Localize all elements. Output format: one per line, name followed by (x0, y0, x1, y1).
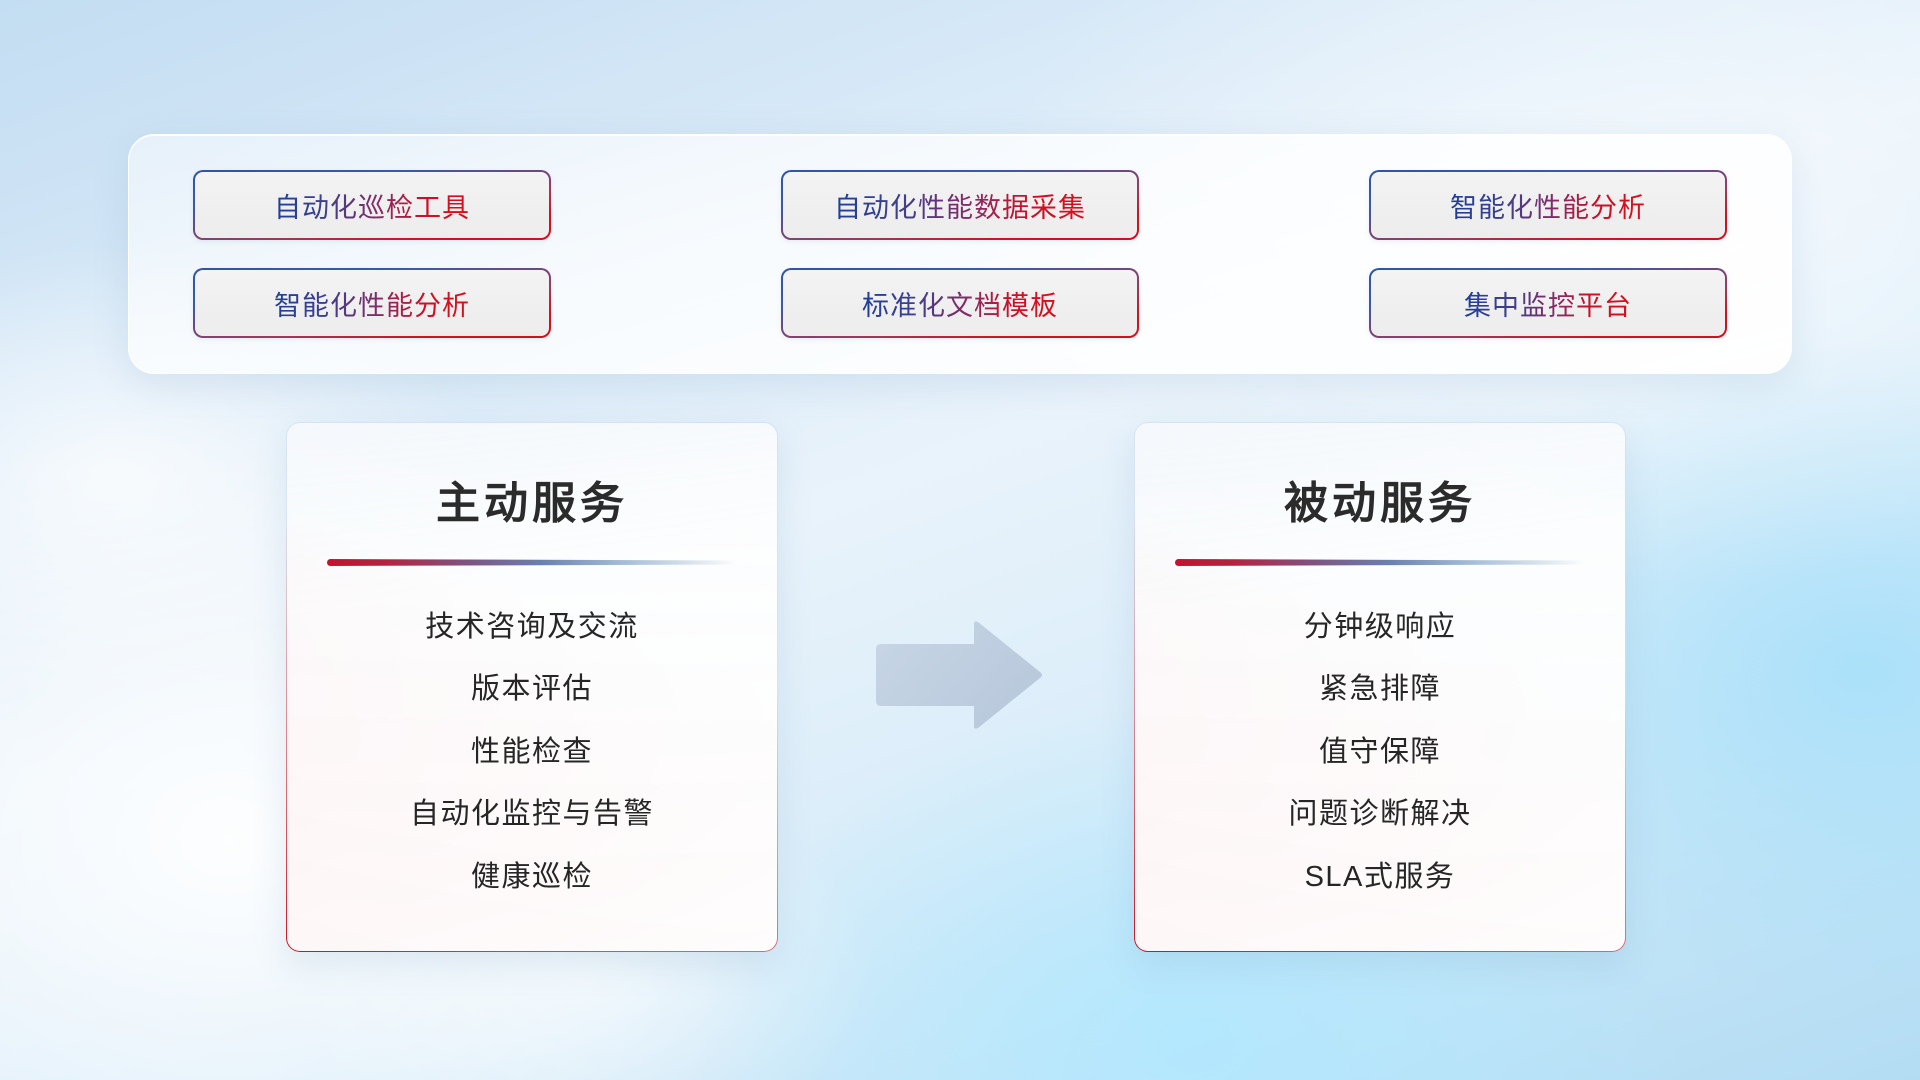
list-item: 版本评估 (471, 665, 593, 707)
diagram-canvas: 自动化巡检工具 自动化性能数据采集 智能化性能分析 智能化性能分析 标准化文档模… (0, 0, 1920, 1080)
list-item: 性能检查 (471, 728, 593, 770)
list-item: 值守保障 (1319, 728, 1441, 770)
list-item: SLA式服务 (1305, 853, 1456, 895)
capability-chip-centralized-monitoring-platform[interactable]: 集中监控平台 (1369, 268, 1727, 338)
capability-chip-label: 自动化性能数据采集 (834, 186, 1086, 225)
list-item: 自动化监控与告警 (410, 790, 654, 832)
list-item: 问题诊断解决 (1288, 790, 1471, 832)
service-card-proactive[interactable]: 主动服务 技术咨询及交流 版本评估 性能检查 自动化监控与告警 健康巡检 (286, 422, 778, 952)
capability-chip-automated-inspection-tool[interactable]: 自动化巡检工具 (193, 170, 551, 240)
capability-chip-standardized-document-template[interactable]: 标准化文档模板 (781, 268, 1139, 338)
capability-chip-label: 标准化文档模板 (862, 284, 1058, 323)
capability-chip-label: 集中监控平台 (1464, 284, 1632, 323)
capabilities-panel: 自动化巡检工具 自动化性能数据采集 智能化性能分析 智能化性能分析 标准化文档模… (128, 134, 1792, 374)
capability-row-2: 智能化性能分析 标准化文档模板 集中监控平台 (193, 268, 1727, 338)
list-item: 紧急排障 (1319, 665, 1441, 707)
card-divider (1175, 559, 1585, 566)
capability-chip-automated-performance-data-collection[interactable]: 自动化性能数据采集 (781, 170, 1139, 240)
list-item: 分钟级响应 (1304, 603, 1457, 645)
service-card-reactive[interactable]: 被动服务 分钟级响应 紧急排障 值守保障 问题诊断解决 SLA式服务 (1134, 422, 1626, 952)
capability-row-1: 自动化巡检工具 自动化性能数据采集 智能化性能分析 (193, 170, 1727, 240)
card-title: 被动服务 (1169, 467, 1591, 531)
capability-chip-intelligent-performance-analysis-a[interactable]: 智能化性能分析 (1369, 170, 1727, 240)
card-title: 主动服务 (321, 467, 743, 531)
list-item: 健康巡检 (471, 853, 593, 895)
capability-chip-intelligent-performance-analysis-b[interactable]: 智能化性能分析 (193, 268, 551, 338)
capability-chip-label: 自动化巡检工具 (274, 186, 470, 225)
card-item-list: 分钟级响应 紧急排障 值守保障 问题诊断解决 SLA式服务 (1169, 566, 1591, 925)
arrow-right-icon (874, 620, 1044, 730)
card-item-list: 技术咨询及交流 版本评估 性能检查 自动化监控与告警 健康巡检 (321, 566, 743, 925)
list-item: 技术咨询及交流 (425, 603, 639, 645)
capability-chip-label: 智能化性能分析 (274, 284, 470, 323)
capability-chip-label: 智能化性能分析 (1450, 186, 1646, 225)
card-divider (327, 559, 737, 566)
